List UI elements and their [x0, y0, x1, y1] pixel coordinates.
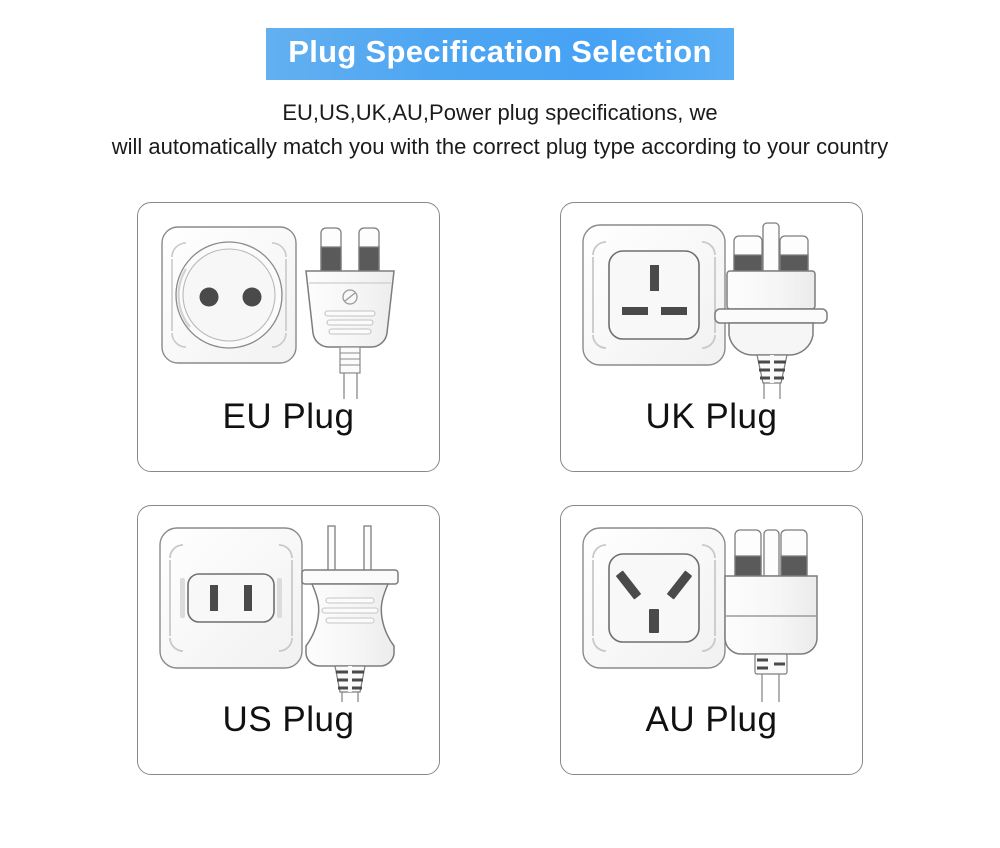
uk-plug-illustration — [569, 209, 854, 399]
plug-card-eu[interactable]: EU Plug — [137, 202, 440, 472]
eu-socket-hole-left — [200, 288, 219, 307]
eu-plug-illustration — [146, 209, 431, 399]
plug-card-label-uk: UK Plug — [646, 395, 778, 439]
au-plug-icon — [725, 530, 817, 702]
plug-card-uk[interactable]: UK Plug — [560, 202, 863, 472]
us-socket-slot-left — [210, 585, 218, 611]
us-socket-slot-right — [244, 585, 252, 611]
page-title: Plug Specification Selection — [266, 28, 734, 80]
eu-plug-icon — [306, 228, 394, 399]
page-header: Plug Specification Selection EU,US,UK,AU… — [0, 0, 1000, 164]
uk-socket-slot-right — [661, 307, 687, 315]
plug-card-label-au: AU Plug — [646, 698, 778, 742]
au-socket-icon — [583, 528, 725, 668]
au-plug-illustration — [569, 512, 854, 702]
plug-card-label-eu: EU Plug — [223, 395, 355, 439]
uk-socket-earth-slot — [650, 265, 659, 291]
plug-card-au[interactable]: AU Plug — [560, 505, 863, 775]
eu-socket-icon — [162, 227, 296, 363]
subtitle-line-1: EU,US,UK,AU,Power plug specifications, w… — [0, 96, 1000, 130]
uk-socket-icon — [583, 225, 725, 365]
us-plug-icon — [302, 526, 398, 702]
plug-card-label-us: US Plug — [223, 698, 355, 742]
au-socket-earth-slot — [649, 609, 659, 633]
plug-specification-page: Plug Specification Selection EU,US,UK,AU… — [0, 0, 1000, 848]
plug-card-us[interactable]: US Plug — [137, 505, 440, 775]
uk-socket-slot-left — [622, 307, 648, 315]
uk-plug-icon — [715, 223, 827, 399]
plug-card-grid: EU Plug — [137, 202, 863, 775]
subtitle-line-2: will automatically match you with the co… — [0, 130, 1000, 164]
us-socket-icon — [160, 528, 302, 668]
page-subtitle: EU,US,UK,AU,Power plug specifications, w… — [0, 96, 1000, 164]
us-plug-illustration — [146, 512, 431, 702]
eu-socket-hole-right — [243, 288, 262, 307]
